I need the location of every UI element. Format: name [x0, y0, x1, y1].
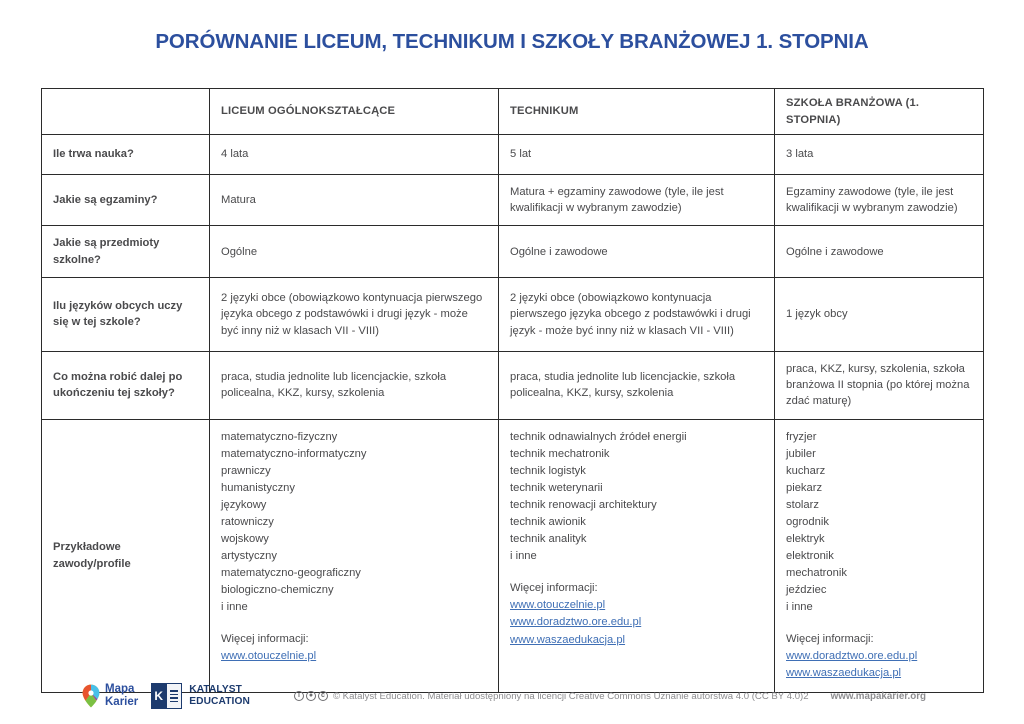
external-link[interactable]: www.otouczelnie.pl [510, 597, 764, 614]
table-row: Jakie są przedmioty szkolne? Ogólne Ogól… [42, 226, 984, 277]
cell-subjects-liceum: Ogólne [210, 226, 499, 277]
cell-languages-technikum: 2 języki obce (obowiązkowo kontynuacja p… [499, 277, 775, 351]
list-item: piekarz [786, 480, 973, 497]
list-item: artystyczny [221, 548, 488, 565]
list-item: i inne [221, 599, 488, 616]
external-link[interactable]: www.waszaedukacja.pl [510, 632, 764, 649]
list-item: prawniczy [221, 463, 488, 480]
website-url: www.mapakarier.org [831, 691, 926, 702]
cell-exams-technikum: Matura + egzaminy zawodowe (tyle, ile je… [499, 175, 775, 226]
row-label-exams: Jakie są egzaminy? [42, 175, 210, 226]
list-item: elektryk [786, 531, 973, 548]
links-technikum: www.otouczelnie.plwww.doradztwo.ore.edu.… [510, 597, 764, 649]
page-title: PORÓWNANIE LICEUM, TECHNIKUM I SZKOŁY BR… [0, 0, 1024, 54]
katalyst-line1: KATALYST [189, 684, 242, 695]
cell-duration-liceum: 4 lata [210, 135, 499, 175]
external-link[interactable]: www.doradztwo.ore.edu.pl [786, 648, 973, 665]
mapa-karier-wordmark: Mapa Karier [105, 683, 138, 709]
row-label-subjects: Jakie są przedmioty szkolne? [42, 226, 210, 277]
list-item: technik weterynarii [510, 480, 764, 497]
cc-by-icon: i [294, 691, 304, 701]
row-label-example-jobs: Przykładowe zawody/profile [42, 419, 210, 692]
mapa-karier-line1: Mapa [105, 683, 134, 695]
list-item: humanistyczny [221, 480, 488, 497]
page-footer: Mapa Karier K KATALYST EDUCATION i ● c ©… [0, 668, 1024, 724]
table-row: Co można robić dalej po ukończeniu tej s… [42, 351, 984, 419]
list-item: i inne [510, 548, 764, 565]
list-item: stolarz [786, 497, 973, 514]
list-item: technik awionik [510, 514, 764, 531]
more-info-label: Więcej informacji: [221, 633, 309, 645]
creative-commons-icons: i ● c [294, 691, 328, 701]
column-header-technikum: TECHNIKUM [499, 89, 775, 135]
cell-jobs-technikum: technik odnawialnych źródeł energiitechn… [499, 419, 775, 692]
cell-after-school-technikum: praca, studia jednolite lub licencjackie… [499, 351, 775, 419]
mapa-karier-line2: Karier [105, 696, 138, 708]
table-row: Ile trwa nauka? 4 lata 5 lat 3 lata [42, 135, 984, 175]
list-item: technik mechatronik [510, 446, 764, 463]
map-pin-icon [82, 684, 100, 708]
list-item: technik odnawialnych źródeł energii [510, 429, 764, 446]
cell-jobs-liceum: matematyczno-fizycznymatematyczno-inform… [210, 419, 499, 692]
jobs-list-branzowa: fryzjerjubilerkucharzpiekarzstolarzogrod… [786, 429, 973, 616]
list-item: elektronik [786, 548, 973, 565]
row-label-after-school: Co można robić dalej po ukończeniu tej s… [42, 351, 210, 419]
external-link[interactable]: www.doradztwo.ore.edu.pl [510, 614, 764, 631]
more-info-technikum: Więcej informacji: www.otouczelnie.plwww… [510, 580, 764, 649]
list-item: technik renowacji architektury [510, 497, 764, 514]
jobs-list-liceum: matematyczno-fizycznymatematyczno-inform… [221, 429, 488, 616]
more-info-liceum: Więcej informacji: www.otouczelnie.pl [221, 631, 488, 665]
cell-jobs-branzowa: fryzjerjubilerkucharzpiekarzstolarzogrod… [775, 419, 984, 692]
license-notice: i ● c © Katalyst Education. Materiał udo… [294, 691, 809, 702]
cell-duration-technikum: 5 lat [499, 135, 775, 175]
cell-subjects-technikum: Ogólne i zawodowe [499, 226, 775, 277]
list-item: matematyczno-informatyczny [221, 446, 488, 463]
more-info-label: Więcej informacji: [510, 582, 598, 594]
table-row: Jakie są egzaminy? Matura Matura + egzam… [42, 175, 984, 226]
more-info-label: Więcej informacji: [786, 633, 874, 645]
cc-person-icon: ● [306, 691, 316, 701]
cell-subjects-branzowa: Ogólne i zawodowe [775, 226, 984, 277]
comparison-table-container: LICEUM OGÓLNOKSZTAŁCĄCE TECHNIKUM SZKOŁA… [41, 88, 983, 693]
links-liceum: www.otouczelnie.pl [221, 648, 488, 665]
list-item: wojskowy [221, 531, 488, 548]
copyright-icon: c [318, 691, 328, 701]
list-item: fryzjer [786, 429, 973, 446]
row-label-languages: Ilu języków obcych uczy się w tej szkole… [42, 277, 210, 351]
list-item: i inne [786, 599, 973, 616]
list-item: biologiczno-chemiczny [221, 582, 488, 599]
list-item: matematyczno-fizyczny [221, 429, 488, 446]
header-corner-cell [42, 89, 210, 135]
katalyst-education-logo: K KATALYST EDUCATION [151, 683, 250, 709]
license-text: © Katalyst Education. Materiał udostępni… [333, 691, 809, 702]
list-item: mechatronik [786, 565, 973, 582]
katalyst-letter-k: K [151, 683, 166, 709]
list-item: językowy [221, 497, 488, 514]
list-item: technik analityk [510, 531, 764, 548]
cell-exams-branzowa: Egzaminy zawodowe (tyle, ile jest kwalif… [775, 175, 984, 226]
table-row-jobs: Przykładowe zawody/profile matematyczno-… [42, 419, 984, 692]
cell-duration-branzowa: 3 lata [775, 135, 984, 175]
column-header-liceum: LICEUM OGÓLNOKSZTAŁCĄCE [210, 89, 499, 135]
cell-languages-liceum: 2 języki obce (obowiązkowo kontynuacja p… [210, 277, 499, 351]
list-item: technik logistyk [510, 463, 764, 480]
katalyst-mark-icon: K [151, 683, 182, 709]
katalyst-wordmark: KATALYST EDUCATION [189, 684, 250, 707]
list-item: ogrodnik [786, 514, 973, 531]
book-icon [166, 683, 182, 709]
external-link[interactable]: www.otouczelnie.pl [221, 648, 488, 665]
column-header-branzowa: SZKOŁA BRANŻOWA (1. STOPNIA) [775, 89, 984, 135]
list-item: kucharz [786, 463, 973, 480]
table-header-row: LICEUM OGÓLNOKSZTAŁCĄCE TECHNIKUM SZKOŁA… [42, 89, 984, 135]
comparison-table: LICEUM OGÓLNOKSZTAŁCĄCE TECHNIKUM SZKOŁA… [41, 88, 984, 693]
list-item: jubiler [786, 446, 973, 463]
list-item: ratowniczy [221, 514, 488, 531]
cell-after-school-liceum: praca, studia jednolite lub licencjackie… [210, 351, 499, 419]
cell-exams-liceum: Matura [210, 175, 499, 226]
list-item: matematyczno-geograficzny [221, 565, 488, 582]
row-label-duration: Ile trwa nauka? [42, 135, 210, 175]
jobs-list-technikum: technik odnawialnych źródeł energiitechn… [510, 429, 764, 565]
cell-after-school-branzowa: praca, KKZ, kursy, szkolenia, szkoła bra… [775, 351, 984, 419]
list-item: jeździec [786, 582, 973, 599]
table-row: Ilu języków obcych uczy się w tej szkole… [42, 277, 984, 351]
katalyst-line2: EDUCATION [189, 696, 250, 707]
cell-languages-branzowa: 1 język obcy [775, 277, 984, 351]
footer-logos: Mapa Karier K KATALYST EDUCATION [82, 683, 250, 709]
mapa-karier-logo: Mapa Karier [82, 683, 138, 709]
